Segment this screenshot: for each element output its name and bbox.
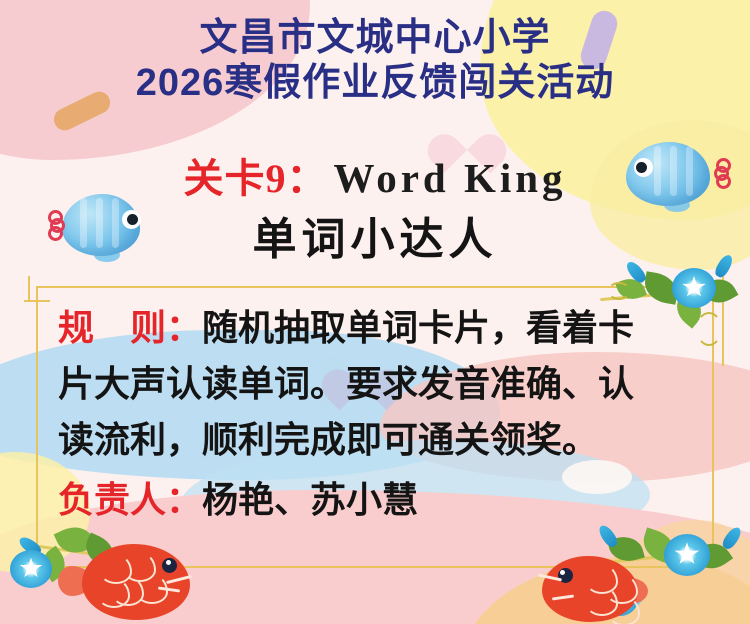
morning-glory-flower-icon xyxy=(10,550,52,588)
morning-glory-flower-icon xyxy=(672,268,716,308)
flower-bud-icon xyxy=(713,253,735,280)
rules-label: 规 则： xyxy=(58,307,202,348)
red-koi-bottom-right-icon xyxy=(534,552,674,624)
morning-glory-vine-top-right xyxy=(600,250,750,360)
owner-names: 杨艳、苏小慧 xyxy=(202,479,418,520)
rule-text-1: 随机抽取单词卡片，看着卡 xyxy=(202,307,634,348)
school-title-line1: 文昌市文城中心小学 xyxy=(0,16,750,61)
stage-subtitle: 单词小达人 xyxy=(253,215,498,264)
rule-line-3: 读流利，顺利完成即可通关领奖。 xyxy=(58,412,692,468)
frame-corner-tick-horizontal xyxy=(24,300,50,302)
stage-heading: 关卡9：Word King xyxy=(0,146,750,204)
poster-canvas: 文昌市文城中心小学 2026寒假作业反馈闯关活动 关卡9：Word King 单… xyxy=(0,0,750,624)
rules-body: 规 则：随机抽取单词卡片，看着卡 片大声认读单词。要求发音准确、认 读流利，顺利… xyxy=(58,300,692,528)
rule-line-2: 片大声认读单词。要求发音准确、认 xyxy=(58,356,692,412)
school-title-line2: 2026寒假作业反馈闯关活动 xyxy=(0,61,750,106)
frame-corner-tick-vertical xyxy=(28,276,30,300)
flower-bud-icon xyxy=(720,525,744,552)
red-koi-bottom-left-icon xyxy=(58,538,218,624)
stage-label-cn: 关卡9： xyxy=(183,156,327,201)
header-title-block: 文昌市文城中心小学 2026寒假作业反馈闯关活动 xyxy=(0,16,750,106)
owner-line: 负责人：杨艳、苏小慧 xyxy=(58,472,692,528)
stage-label-en: Word King xyxy=(333,155,566,201)
rule-line-1: 规 则：随机抽取单词卡片，看着卡 xyxy=(58,300,692,356)
